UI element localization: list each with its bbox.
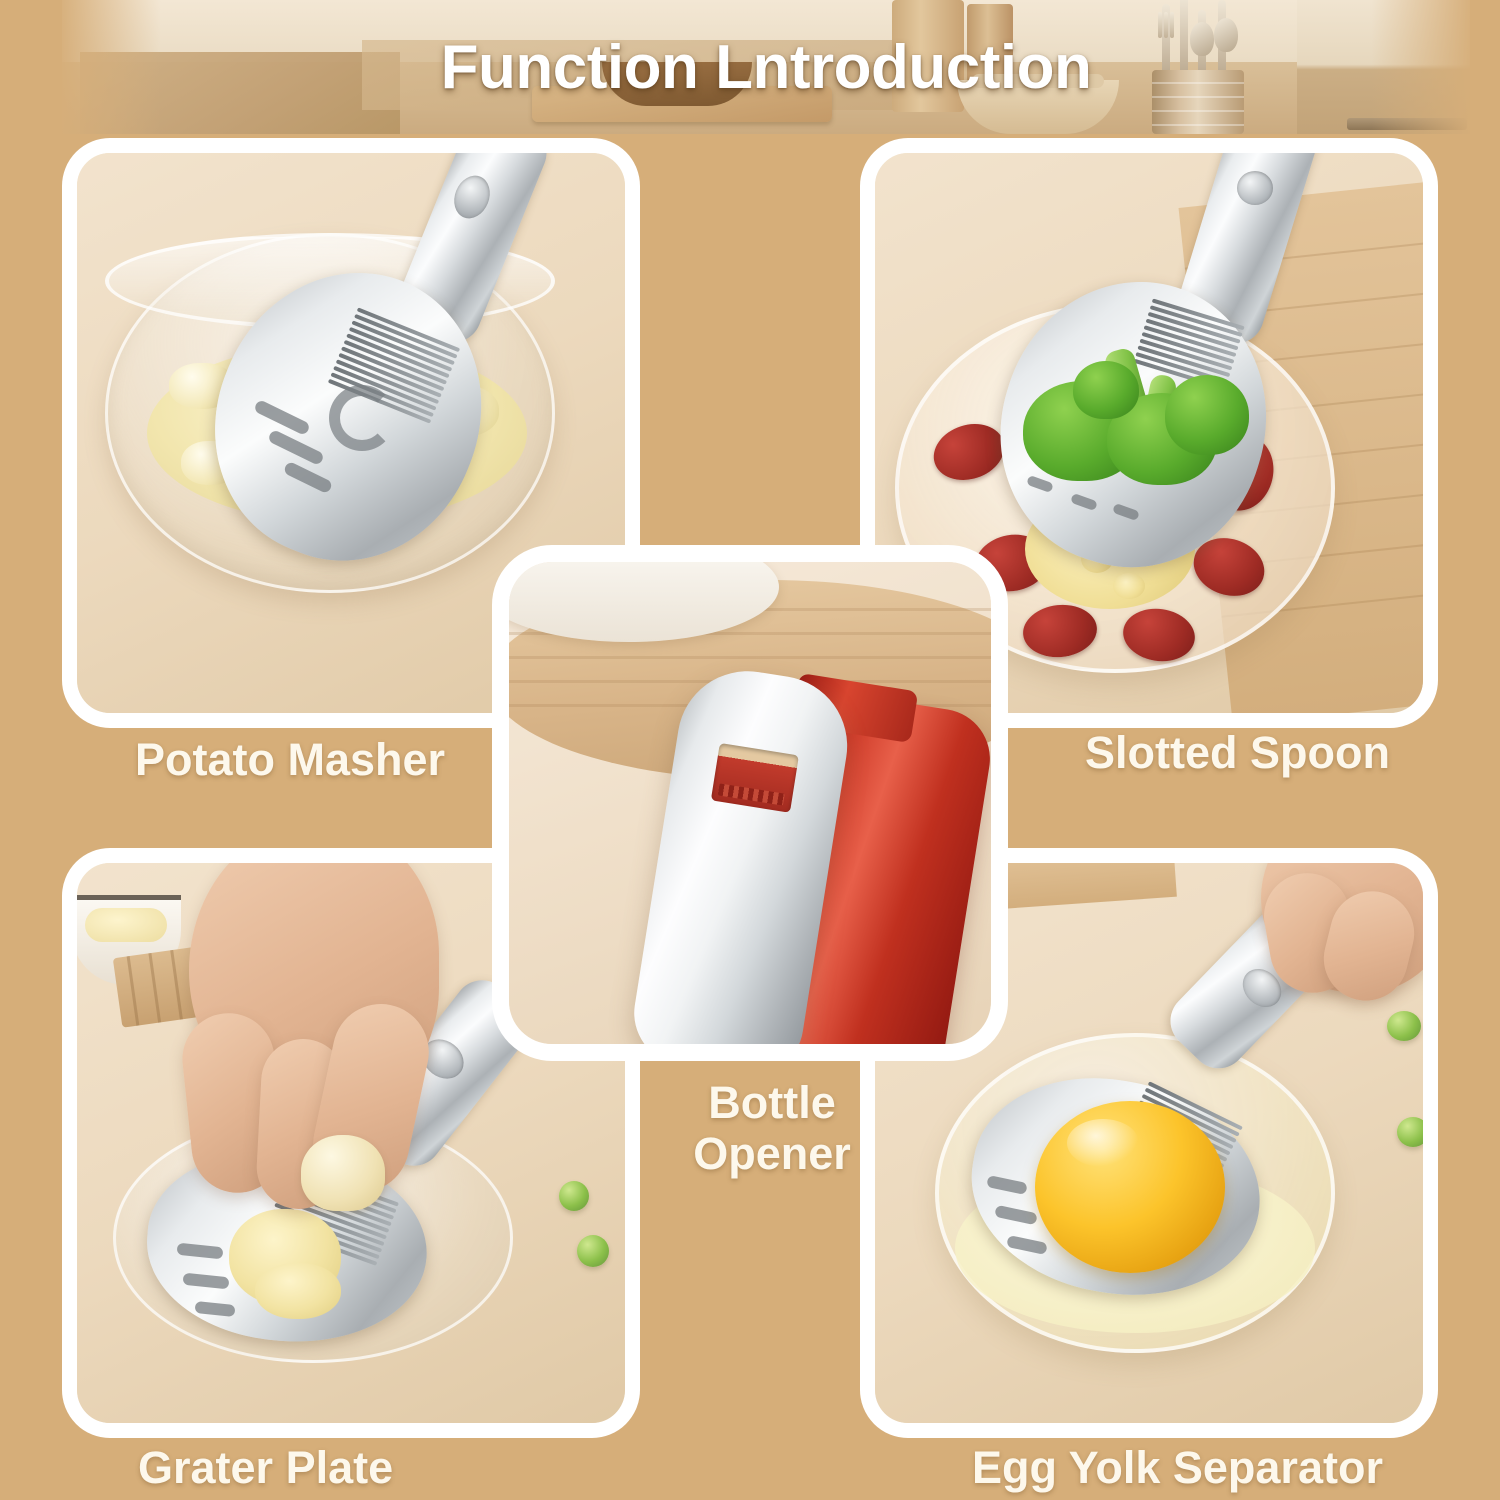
label-slotted-spoon: Slotted Spoon	[1085, 728, 1390, 779]
label-grater-plate: Grater Plate	[138, 1443, 393, 1494]
thumb-dent	[1237, 171, 1273, 205]
label-bottle-opener: Bottle Opener	[672, 1078, 872, 1180]
corn-kernel	[1113, 573, 1145, 599]
header-banner: Function Lntroduction	[62, 0, 1470, 134]
minced-garlic	[255, 1263, 341, 1319]
broccoli-floret	[1165, 375, 1249, 455]
broccoli	[1015, 331, 1255, 491]
spoon-slot-ring	[329, 385, 395, 451]
photo-bottle-opener	[509, 562, 991, 1044]
garlic-clove	[301, 1135, 385, 1211]
label-bottle-opener-line1: Bottle	[672, 1078, 872, 1129]
bottle-opener-slot	[711, 743, 799, 813]
green-pea	[577, 1235, 609, 1267]
broccoli-floret	[1073, 361, 1139, 419]
green-pea	[1397, 1117, 1423, 1147]
card-bottle-opener[interactable]	[492, 545, 1008, 1061]
wooden-board-edge	[993, 863, 1177, 909]
label-potato-masher: Potato Masher	[135, 735, 445, 786]
page-title: Function Lntroduction	[62, 0, 1470, 134]
green-pea	[559, 1181, 589, 1211]
yolk-highlight	[1067, 1119, 1139, 1167]
green-pea	[1387, 1011, 1421, 1041]
label-bottle-opener-line2: Opener	[672, 1129, 872, 1180]
label-egg-yolk-separator: Egg Yolk Separator	[972, 1443, 1383, 1494]
